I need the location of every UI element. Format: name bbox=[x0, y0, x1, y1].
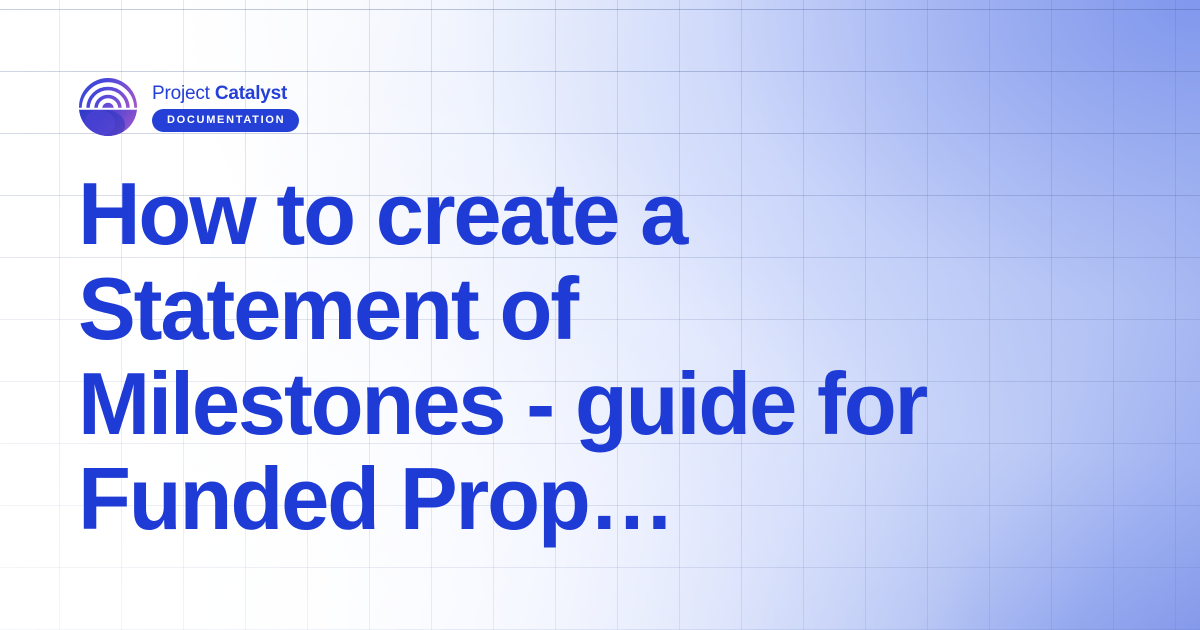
social-share-card: Project Catalyst DOCUMENTATION How to cr… bbox=[0, 0, 1200, 630]
brand-lockup: Project Catalyst DOCUMENTATION bbox=[78, 76, 1200, 138]
brand-text-block: Project Catalyst DOCUMENTATION bbox=[152, 82, 299, 132]
page-title-line-4: Funded Prop… bbox=[78, 451, 1073, 546]
page-title-line-3: Milestones - guide for bbox=[78, 356, 1073, 451]
brand-name-regular: Project bbox=[152, 83, 215, 104]
project-catalyst-arc-logo-icon bbox=[78, 77, 138, 137]
brand-name: Project Catalyst bbox=[152, 84, 299, 104]
brand-name-bold: Catalyst bbox=[215, 83, 287, 104]
page-title: How to create a Statement of Milestones … bbox=[78, 166, 1073, 546]
documentation-badge: DOCUMENTATION bbox=[152, 109, 299, 132]
page-title-line-1: How to create a bbox=[78, 166, 1073, 261]
page-title-line-2: Statement of bbox=[78, 261, 1073, 356]
card-content: Project Catalyst DOCUMENTATION How to cr… bbox=[0, 0, 1200, 630]
